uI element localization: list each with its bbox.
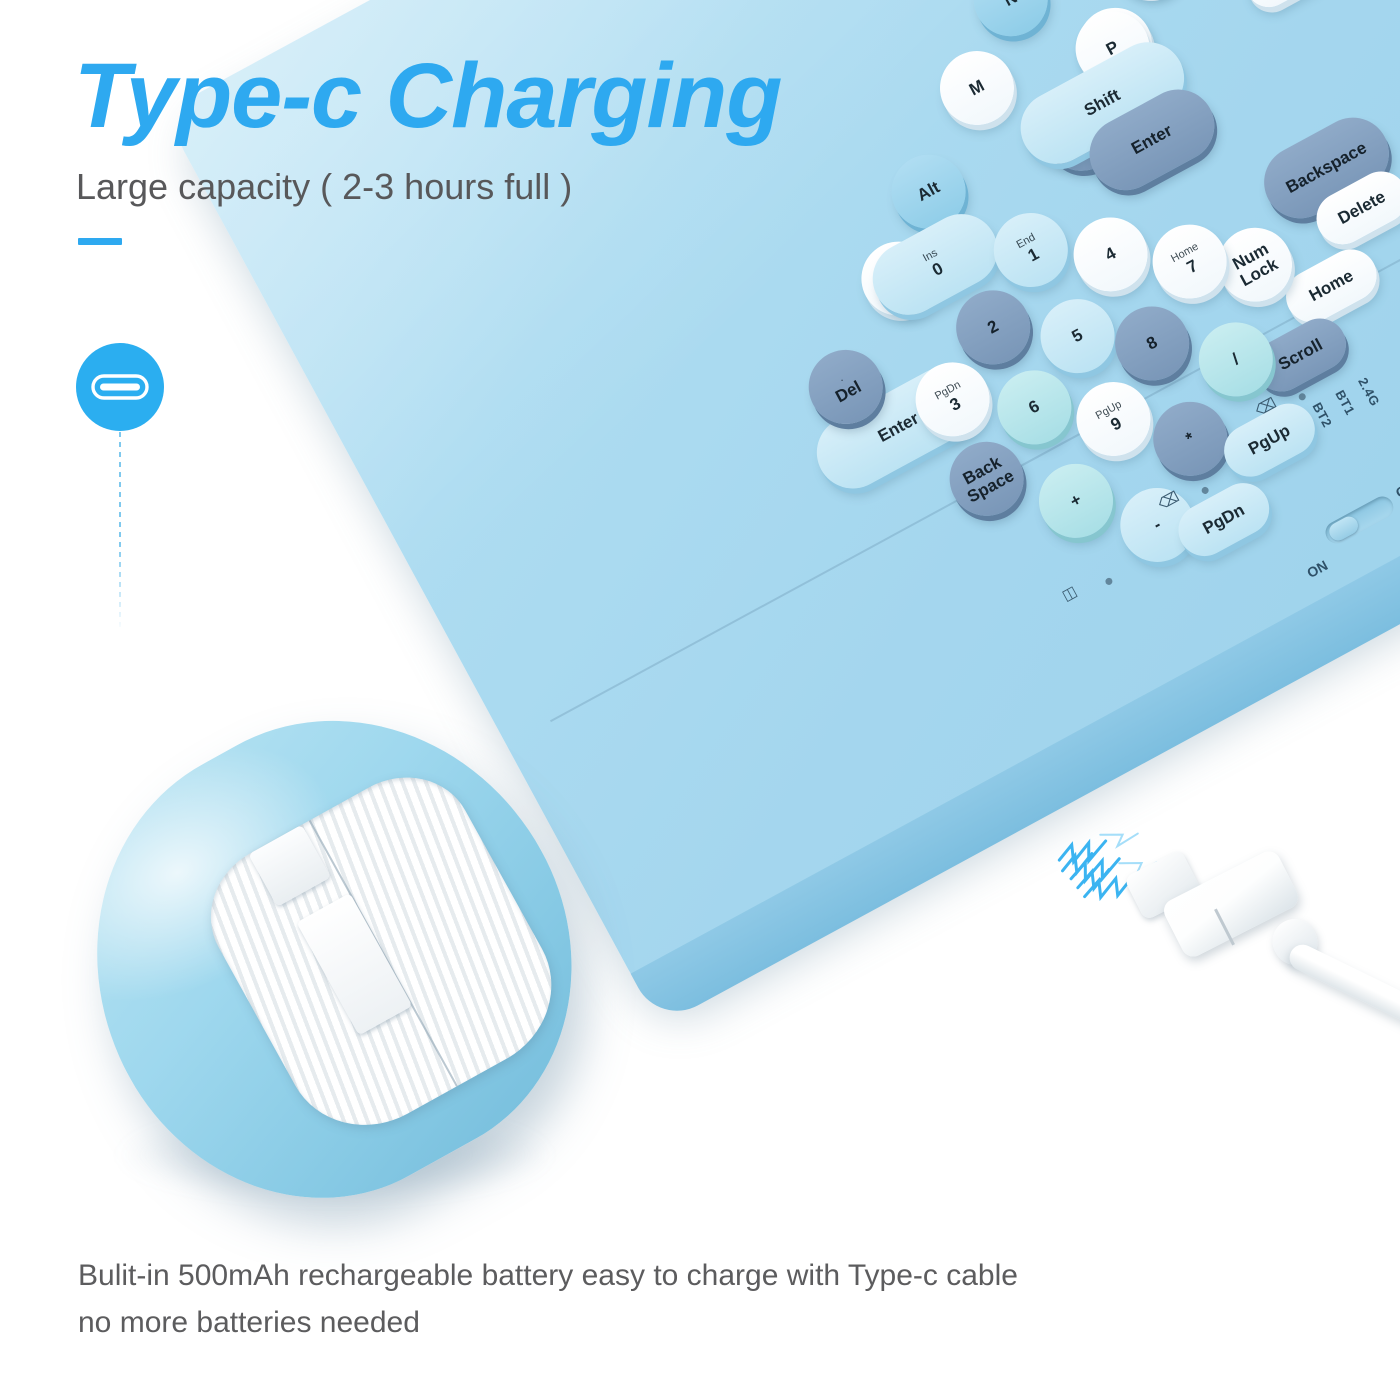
key-3[interactable]: PgDn3 xyxy=(902,349,1002,449)
key-pgup[interactable]: PgUp xyxy=(1215,394,1324,486)
key-enter[interactable]: Enter xyxy=(1077,77,1227,203)
power-switch-knob[interactable] xyxy=(1326,513,1361,543)
cable-wire xyxy=(1285,940,1400,1064)
key-back-space[interactable]: Back Space xyxy=(936,429,1036,529)
power-switch-track[interactable] xyxy=(1322,493,1398,548)
keycap-label: L xyxy=(1073,123,1091,144)
cable-connector-seam xyxy=(1214,908,1235,945)
caps-lock-led xyxy=(1200,486,1209,495)
keyboard-body xyxy=(163,0,1400,1009)
wireless-mouse xyxy=(14,641,648,1271)
keyboard-seam xyxy=(550,155,1400,722)
keycap-label: 9 xyxy=(1108,414,1125,434)
key-j[interactable]: J xyxy=(1100,0,1200,5)
product-photo: AltCtrlBNMVCGHJKLYUIOP&7*8)9)0F8F9F10F11… xyxy=(0,0,1400,1400)
keycap-label: / xyxy=(1230,350,1243,368)
keycap-label: 2 xyxy=(985,317,1002,337)
wireless-keyboard: AltCtrlBNMVCGHJKLYUIOP&7*8)9)0F8F9F10F11… xyxy=(163,0,1400,1009)
key-p[interactable]: P xyxy=(1062,0,1162,99)
keycap-sublabel: PgDn xyxy=(934,380,964,403)
keycap-label: Delete xyxy=(1335,188,1388,228)
mouse-body xyxy=(14,641,648,1271)
key-8[interactable]: 8 xyxy=(1102,293,1202,393)
keycap-label: Ctrl xyxy=(881,264,915,294)
keycap-label: P xyxy=(1103,38,1121,59)
keycap-label: + xyxy=(1067,491,1084,511)
caps-lock-icon: ⌫ xyxy=(1155,488,1182,514)
key-2[interactable]: 2 xyxy=(943,277,1043,377)
cable-connector-tip xyxy=(1124,849,1203,921)
usb-c-badge xyxy=(76,343,164,431)
keycap-label: Shift xyxy=(1082,86,1124,120)
charging-spark-effect xyxy=(1046,770,1239,941)
keycap-label: Enter xyxy=(875,409,922,445)
key-4[interactable]: 4 xyxy=(1060,204,1160,304)
key-n[interactable]: N xyxy=(961,0,1061,49)
mouse-scroll-wheel[interactable] xyxy=(296,893,412,1035)
keycap-label: Enter xyxy=(1129,122,1176,158)
num-lock-icon: ⌫ xyxy=(1252,394,1279,420)
keycap-label: Home xyxy=(1306,267,1356,305)
key-o[interactable]: O xyxy=(1098,0,1198,9)
key-ctrl[interactable]: Ctrl xyxy=(848,228,948,328)
page-subtitle: Large capacity ( 2-3 hours full ) xyxy=(76,166,572,208)
key-f12[interactable]: F12 xyxy=(1238,0,1332,15)
key-backspace[interactable]: Backspace xyxy=(1251,105,1400,231)
key-5[interactable]: 5 xyxy=(1027,286,1127,386)
keycap-sublabel: Home xyxy=(1170,242,1201,266)
keycap-label: Num Lock xyxy=(1214,231,1296,298)
keyboard-front-edge xyxy=(631,372,1400,1026)
keycap-label: K xyxy=(1106,34,1125,56)
key-[interactable]: + xyxy=(1026,451,1126,551)
keycap-label: 6 xyxy=(1026,397,1043,417)
channel-label-bt1: BT1 xyxy=(1332,387,1358,417)
key-del[interactable]: .Del xyxy=(796,337,896,437)
footer-caption: Bulit-in 500mAh rechargeable battery eas… xyxy=(78,1253,1018,1346)
mouse-button-split xyxy=(309,820,458,1086)
channel-label-bt2: BT2 xyxy=(1310,400,1336,430)
key-enter[interactable]: Enter xyxy=(804,354,993,501)
key-alt[interactable]: Alt xyxy=(878,142,978,242)
key-7[interactable]: Home7 xyxy=(1139,211,1239,311)
keycap-label: 0 xyxy=(929,259,946,279)
key-scroll[interactable]: Scroll xyxy=(1246,309,1355,401)
keycap-label: M xyxy=(967,77,988,99)
key-pgdn[interactable]: PgDn xyxy=(1169,474,1278,566)
key-9[interactable]: PgUp9 xyxy=(1063,369,1163,469)
key-num-lock[interactable]: Num Lock xyxy=(1205,215,1305,315)
key-home[interactable]: Home xyxy=(1277,240,1386,332)
key-[interactable]: / xyxy=(1186,309,1286,409)
badge-connector-line xyxy=(119,432,121,632)
keycap-sublabel: Ins xyxy=(922,248,940,265)
keycap-label: * xyxy=(1183,429,1197,448)
channel-label-24g: 2.4G xyxy=(1355,375,1383,409)
key-shift[interactable]: Shift xyxy=(1008,29,1197,176)
key-[interactable]: - xyxy=(1107,475,1207,575)
keycap-label: 3 xyxy=(947,394,964,414)
page-title: Type-c Charging xyxy=(74,50,781,142)
keycap-label: Backspace xyxy=(1283,139,1370,197)
battery-icon: ◫ xyxy=(1059,582,1080,605)
switch-label-on: ON xyxy=(1304,557,1330,581)
keycap-label: - xyxy=(1151,516,1164,534)
keycap-label: 8 xyxy=(1144,333,1161,353)
usb-c-port-icon xyxy=(91,374,149,400)
mouse-dpi-button[interactable] xyxy=(248,825,330,907)
cable-connector-shell xyxy=(1160,847,1302,960)
cable-strain-relief xyxy=(1265,912,1325,973)
mouse-top-plate[interactable] xyxy=(186,752,580,1154)
type-c-cable xyxy=(1095,835,1400,1035)
keycap-label: Del xyxy=(833,378,865,406)
keycap-label: Scroll xyxy=(1276,336,1326,374)
mouse-shadow xyxy=(120,1110,550,1200)
key-delete[interactable]: Delete xyxy=(1307,162,1400,254)
key-0[interactable]: Ins0 xyxy=(860,201,1010,327)
keycap-label: 1 xyxy=(1025,245,1042,265)
keycap-sublabel: . xyxy=(837,373,845,385)
battery-led xyxy=(1104,577,1113,586)
num-lock-led xyxy=(1297,392,1306,401)
key-l[interactable]: L xyxy=(1031,84,1131,184)
keycap-label: 4 xyxy=(1102,244,1119,264)
keycap-label: PgUp xyxy=(1246,422,1294,459)
keycap-label: Back Space xyxy=(946,445,1028,512)
key-m[interactable]: M xyxy=(927,38,1027,138)
key-k[interactable]: K xyxy=(1065,0,1165,95)
key-6[interactable]: 6 xyxy=(984,357,1084,457)
keycap-sublabel: End xyxy=(1015,232,1038,251)
key-1[interactable]: End1 xyxy=(981,200,1081,300)
keycap-label: 7 xyxy=(1184,257,1201,277)
keycap-sublabel: PgUp xyxy=(1094,400,1124,423)
switch-label-off: OFF xyxy=(1393,474,1400,501)
keycap-label: Alt xyxy=(914,178,942,204)
keycap-label: 5 xyxy=(1069,326,1086,346)
key-[interactable]: * xyxy=(1140,389,1240,489)
accent-divider xyxy=(78,238,122,245)
keycap-label: PgDn xyxy=(1200,501,1248,538)
keycap-label: N xyxy=(1001,0,1020,10)
